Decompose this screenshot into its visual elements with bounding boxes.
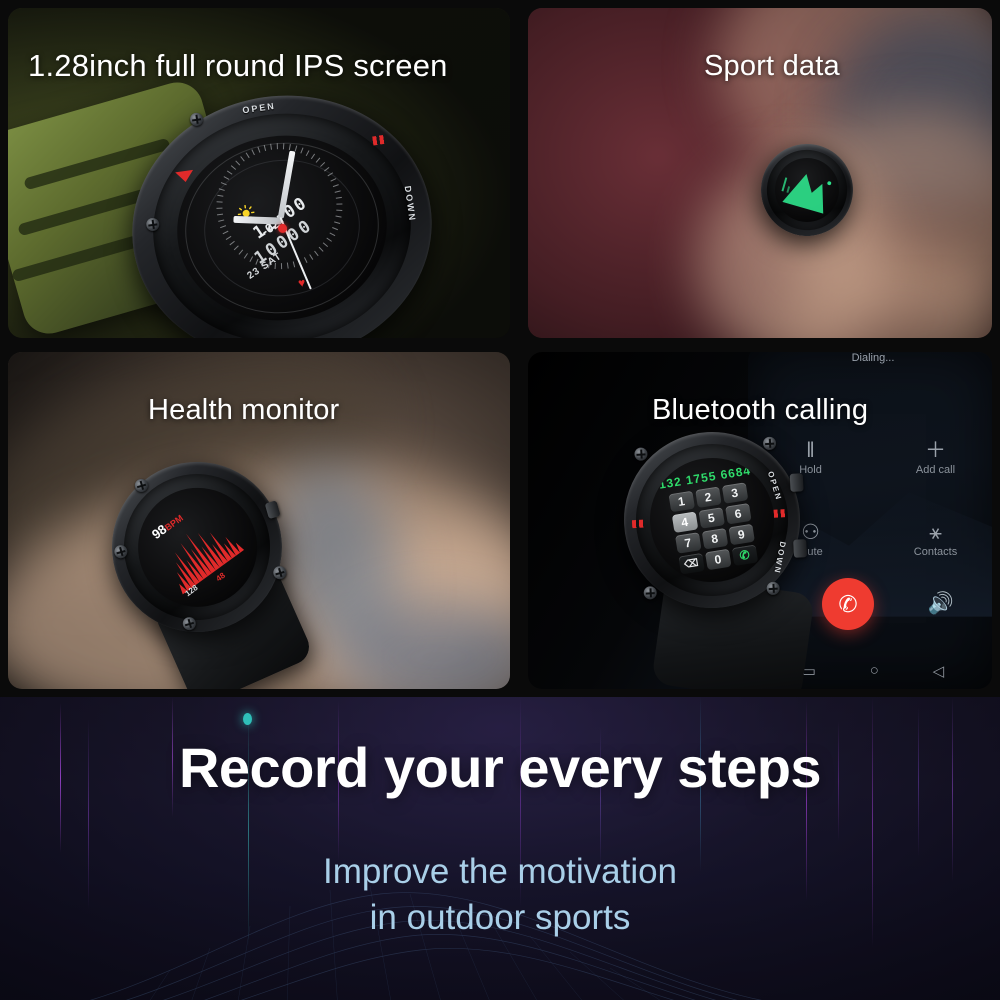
watch-face-ips: -02° 12:00 10000 23 SAT ♥: [165, 122, 399, 334]
smartwatch-calling: OPEN DOWN 132 1755 6684 1 2 3: [620, 428, 805, 613]
dial-key-5[interactable]: 5: [699, 508, 726, 530]
backspace-icon[interactable]: ⌫: [678, 553, 705, 575]
dial-key-9[interactable]: 9: [728, 524, 755, 546]
face-tick: [277, 143, 278, 149]
face-tick: [281, 263, 282, 269]
watch-side-button[interactable]: [793, 539, 807, 558]
bezel-screw: [634, 447, 648, 461]
watch-screen: 132 1755 6684 1 2 3 4 5 6 7 8 9 ⌫: [647, 455, 776, 584]
dial-key-8[interactable]: 8: [702, 528, 729, 550]
dial-key-7[interactable]: 7: [675, 533, 702, 555]
phone-status: Dialing...: [748, 352, 992, 364]
bezel-screw: [763, 437, 777, 451]
bezel-marker-stripes: [774, 509, 786, 518]
watch-face-dialer: 132 1755 6684 1 2 3 4 5 6 7 8 9 ⌫: [647, 455, 776, 584]
bezel-marker-stripes: [632, 520, 644, 529]
banner-title: Record your every steps: [0, 735, 1000, 800]
teal-dot: [243, 713, 252, 725]
end-call-icon: ✆: [838, 591, 857, 618]
dialer-keypad: 1 2 3 4 5 6 7 8 9 ⌫ 0 ✆: [669, 483, 759, 575]
contacts-icon: ⚹: [873, 520, 992, 546]
banner-subtitle-line2: in outdoor sports: [370, 898, 631, 937]
speaker-icon[interactable]: 🔊: [928, 592, 954, 616]
bezel-screw: [643, 586, 657, 600]
banner-subtitle: Improve the motivation in outdoor sports: [0, 849, 1000, 941]
dial-key-6[interactable]: 6: [725, 504, 752, 526]
banner-subtitle-line1: Improve the motivation: [323, 852, 677, 891]
watch-screen: -02° 12:00 10000 23 SAT ♥: [165, 122, 399, 334]
end-call-button[interactable]: ✆: [822, 578, 874, 630]
panel-health-monitor: 98BPM 128 48 Health monitor: [8, 352, 510, 689]
face-tick: [216, 208, 222, 209]
panel-caption-calling: Bluetooth calling: [652, 394, 868, 427]
dial-key-2[interactable]: 2: [695, 487, 722, 509]
watch-side-button[interactable]: [790, 473, 804, 492]
dial-key-1[interactable]: 1: [669, 491, 696, 513]
dial-key-4[interactable]: 4: [672, 512, 699, 534]
phone-action-label: Add call: [916, 464, 955, 476]
bezel-screw: [766, 582, 780, 596]
panel-bluetooth-calling: Dialing... ‖ Hold ＋ Add call ⚇ Mute: [528, 352, 992, 689]
plus-icon: ＋: [873, 438, 992, 464]
watch-hands-pin: [277, 223, 287, 233]
bottom-banner: Record your every steps Improve the moti…: [0, 697, 1000, 1000]
phone-action-contacts[interactable]: ⚹ Contacts: [873, 520, 992, 558]
home-icon[interactable]: ○: [870, 662, 879, 680]
bpm-low-value: 48: [214, 571, 226, 584]
face-tick: [336, 203, 342, 204]
phone-action-label: Contacts: [914, 546, 957, 558]
phone-action-add-call[interactable]: ＋ Add call: [873, 438, 992, 476]
smartwatch-ips: OPEN DOWN: [115, 76, 449, 338]
call-icon[interactable]: ✆: [732, 545, 759, 567]
panel-caption-ips: 1.28inch full round IPS screen: [28, 48, 448, 84]
product-feature-image: OPEN DOWN: [0, 0, 1000, 1000]
panel-caption-sport: Sport data: [704, 50, 840, 83]
dial-key-3[interactable]: 3: [722, 483, 749, 505]
panel-ips-screen: OPEN DOWN: [8, 8, 510, 338]
panel-caption-health: Health monitor: [148, 394, 339, 427]
dial-key-0[interactable]: 0: [705, 549, 732, 571]
panel-sport-data: Sport data: [528, 8, 992, 338]
feature-panel-grid: OPEN DOWN: [0, 0, 1000, 697]
back-icon[interactable]: ◁: [933, 662, 945, 680]
